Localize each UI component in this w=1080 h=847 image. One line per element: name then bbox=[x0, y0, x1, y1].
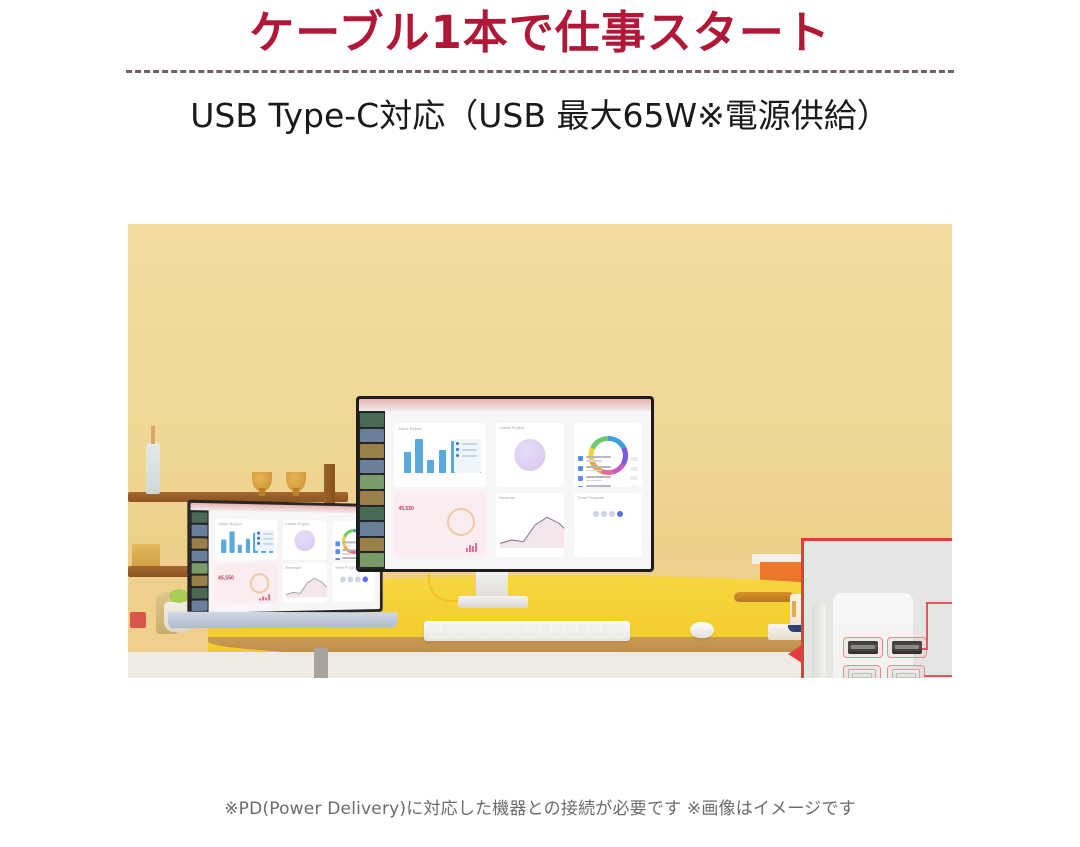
page-subtitle: USB Type-C対応（USB 最大65W※電源供給） bbox=[0, 95, 1080, 137]
rail-thumb bbox=[360, 475, 384, 489]
dashboard-thumbnail-rail bbox=[359, 411, 385, 569]
avatar-group bbox=[577, 511, 638, 517]
rail-thumb bbox=[192, 575, 208, 586]
laptop-display: Sales Report Latest Proj bbox=[191, 503, 380, 613]
product-scene-photo: Sales Report Latest Proj bbox=[128, 224, 952, 678]
kpi-card: 45,550 bbox=[215, 563, 277, 604]
monitor-ports-callout bbox=[801, 538, 952, 678]
rail-thumb bbox=[192, 550, 208, 560]
rail-thumb bbox=[360, 553, 384, 567]
rail-thumb bbox=[360, 460, 384, 474]
avatar-group bbox=[335, 576, 373, 582]
monitor-bezel: Sales Report Latest Proj bbox=[356, 396, 654, 572]
project-blob bbox=[295, 531, 315, 552]
desk-leg-left bbox=[314, 648, 328, 678]
team-progress-card: Team Progress bbox=[574, 493, 642, 558]
list-item bbox=[578, 466, 638, 472]
pen-tray bbox=[734, 592, 794, 602]
card-title: Sales Report bbox=[218, 522, 274, 527]
rail-thumb bbox=[192, 600, 208, 611]
kpi-value: 45,550 bbox=[218, 576, 234, 582]
rail-thumb bbox=[360, 444, 384, 458]
rail-thumb bbox=[192, 563, 208, 574]
sales-report-card: Sales Report bbox=[215, 519, 277, 560]
laptop-base bbox=[168, 612, 397, 629]
dashed-divider bbox=[126, 70, 954, 73]
usb-a-port-2 bbox=[892, 669, 920, 678]
card-title: Latest Project bbox=[285, 522, 324, 527]
kpi-ring bbox=[250, 573, 270, 593]
revenue-line-card: Revenue bbox=[283, 563, 327, 603]
monitor-dashboard: Sales Report Latest Proj bbox=[359, 399, 651, 569]
monitor-display: Sales Report Latest Proj bbox=[359, 399, 651, 569]
list-item bbox=[578, 476, 638, 482]
kpi-mini-bars bbox=[260, 594, 271, 601]
dashboard-body: Sales Report Latest Proj bbox=[385, 411, 651, 569]
line-chart bbox=[286, 577, 327, 598]
hdmi-connector-line-v bbox=[926, 602, 928, 650]
rail-thumb bbox=[192, 588, 208, 599]
kpi-value: 45,550 bbox=[399, 506, 414, 512]
category-list bbox=[578, 456, 638, 487]
rail-thumb bbox=[192, 525, 208, 536]
usb-a-connector-line bbox=[924, 675, 952, 677]
rail-thumb bbox=[360, 507, 384, 521]
dashboard-thumbnail-rail bbox=[191, 511, 209, 614]
latest-project-card: Latest Project bbox=[283, 520, 327, 560]
revenue-line-card: Revenue bbox=[496, 493, 564, 558]
header-block: ケーブル1本で仕事スタート USB Type-C対応（USB 最大65W※電源供… bbox=[0, 0, 1080, 137]
card-title: Latest Project bbox=[499, 426, 560, 430]
line-chart bbox=[500, 515, 564, 549]
bottle-decor bbox=[146, 442, 160, 494]
sales-report-card: Sales Report bbox=[394, 423, 486, 488]
chart-legend bbox=[255, 530, 273, 551]
rail-thumb bbox=[360, 522, 384, 536]
chart-legend bbox=[454, 439, 482, 473]
hdmi-connector-line-h2 bbox=[926, 602, 952, 604]
storage-box bbox=[132, 544, 160, 566]
card-title: Revenue bbox=[499, 496, 560, 500]
kpi-mini-bars bbox=[466, 542, 477, 552]
list-item bbox=[578, 456, 638, 462]
callout-arrow-icon bbox=[788, 645, 802, 663]
donut-summary-card bbox=[574, 423, 642, 488]
hdmi-port-2 bbox=[892, 641, 922, 654]
laptop-dashboard: Sales Report Latest Proj bbox=[191, 503, 380, 613]
laptop-screen-lid: Sales Report Latest Proj bbox=[187, 500, 382, 617]
latest-project-card: Latest Project bbox=[496, 423, 564, 488]
monitor-stand-base bbox=[458, 596, 528, 608]
dashboard-body: Sales Report Latest Proj bbox=[209, 511, 380, 613]
rail-thumb bbox=[360, 413, 384, 427]
card-title: Revenue bbox=[285, 565, 324, 569]
kpi-card: 45,550 bbox=[394, 493, 486, 558]
red-cup-decor bbox=[130, 612, 146, 628]
usb-a-port-1 bbox=[848, 669, 876, 678]
rail-thumb bbox=[360, 429, 384, 443]
monitor-back-edge bbox=[812, 603, 826, 678]
kpi-ring bbox=[447, 508, 475, 536]
rail-thumb bbox=[360, 538, 384, 552]
dashboard-topbar bbox=[359, 399, 651, 411]
card-title: Sales Report bbox=[399, 427, 482, 431]
project-blob bbox=[514, 439, 545, 470]
list-item bbox=[578, 485, 638, 487]
card-title: Team Progress bbox=[577, 496, 638, 500]
hdmi-port-1 bbox=[848, 641, 878, 654]
page-title: ケーブル1本で仕事スタート bbox=[0, 4, 1080, 62]
rail-thumb bbox=[192, 513, 208, 524]
mouse bbox=[690, 622, 714, 638]
keyboard bbox=[424, 621, 630, 641]
rail-thumb bbox=[360, 491, 384, 505]
keyboard-keys bbox=[429, 624, 625, 638]
footer-disclaimer: ※PD(Power Delivery)に対応した機器との接続が必要です ※画像は… bbox=[0, 794, 1080, 819]
rail-thumb bbox=[192, 538, 208, 549]
